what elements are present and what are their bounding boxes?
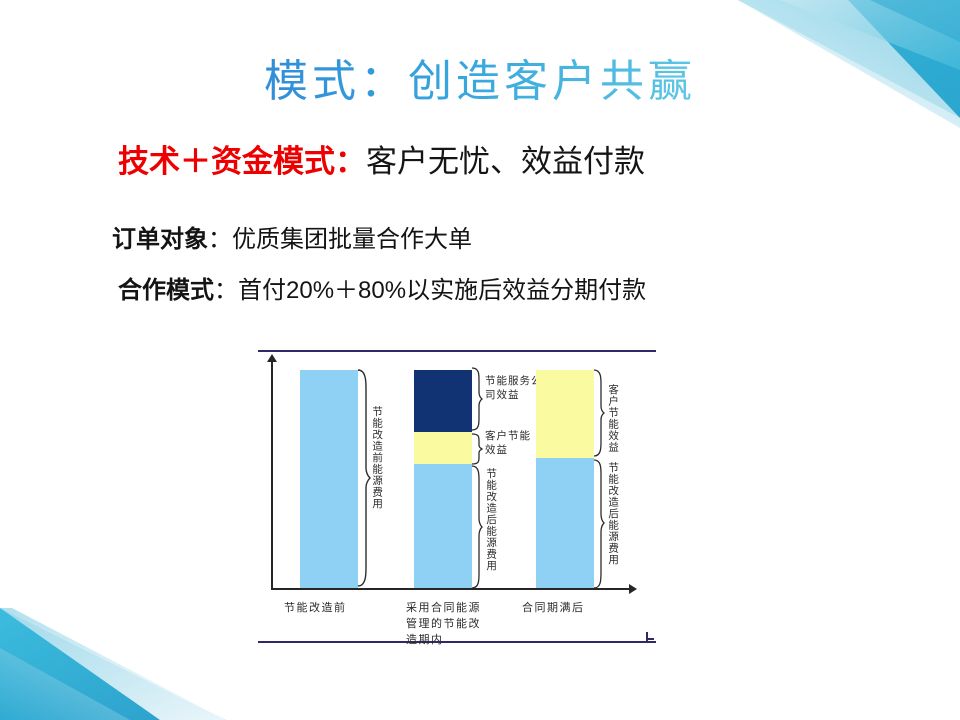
- brace-customer-benefit-during: [471, 432, 483, 466]
- bullet-value: 首付20%＋80%以实施后效益分期付款: [238, 277, 646, 304]
- x-axis-label-after-contract: 合同期满后: [522, 600, 612, 616]
- bullet-value: 优质集团批量合作大单: [232, 226, 472, 253]
- chart-bottom-rule-tick-foot: [648, 638, 654, 640]
- x-axis-label-during-emc: 采用合同能源管理的节能改造期内: [406, 600, 482, 648]
- brace-energy-cost-after-during: [471, 464, 483, 590]
- brace-customer-benefit-after: [593, 368, 605, 460]
- bar-segment-customer-benefit-after: [536, 370, 594, 458]
- decoration-bottom-left: [0, 600, 240, 720]
- bullet-line-cooperation-mode: 合作模式：首付20%＋80%以实施后效益分期付款: [118, 275, 646, 306]
- energy-saving-bar-chart: 节能改造前能源费用 节能服务公司效益 客户节能效益 节能改造后能源费用: [258, 350, 656, 650]
- brace-energy-cost-after-2: [593, 458, 605, 590]
- brace-esco-benefit: [471, 366, 483, 432]
- bar-segment-energy-cost-after: [414, 464, 472, 588]
- bullet-key: 合作模式: [118, 277, 214, 304]
- headline: 技术＋资金模式：客户无忧、效益付款: [118, 143, 645, 182]
- bar-segment-esco-benefit: [414, 370, 472, 432]
- bullet-separator: ：: [208, 226, 232, 253]
- bullet-separator: ：: [214, 277, 238, 304]
- x-axis-label-before-retrofit: 节能改造前: [284, 600, 374, 616]
- label-customer-benefit-during: 客户节能效益: [485, 429, 537, 457]
- bar-segment-energy-cost-before: [300, 370, 358, 588]
- chart-y-axis-arrow: [267, 354, 277, 362]
- label-energy-cost-after-during: 节能改造后能源费用: [484, 468, 497, 572]
- bar-segment-customer-benefit: [414, 432, 472, 464]
- bullet-line-order-target: 订单对象：优质集团批量合作大单: [112, 224, 472, 255]
- chart-y-axis: [271, 360, 273, 590]
- chart-x-axis: [271, 588, 631, 590]
- chart-bottom-rule-tick: [646, 632, 648, 642]
- brace-energy-cost-before: [357, 368, 371, 588]
- bullet-key: 订单对象: [112, 226, 208, 253]
- bar-segment-energy-cost-after-2: [536, 458, 594, 588]
- label-energy-cost-before: 节能改造前能源费用: [370, 406, 383, 510]
- chart-top-rule: [258, 350, 656, 352]
- label-energy-cost-after-2: 节能改造后能源费用: [606, 462, 619, 566]
- headline-emphasis: 技术＋资金模式：: [118, 144, 366, 179]
- label-customer-benefit-after: 客户节能效益: [606, 384, 619, 453]
- headline-rest: 客户无忧、效益付款: [366, 144, 645, 179]
- bar-column-before-retrofit: [300, 370, 358, 588]
- bar-column-during-emc: [414, 370, 472, 588]
- chart-x-axis-arrow: [629, 584, 637, 594]
- bar-column-after-contract: [536, 370, 594, 588]
- page-title: 模式：创造客户共赢: [0, 58, 960, 106]
